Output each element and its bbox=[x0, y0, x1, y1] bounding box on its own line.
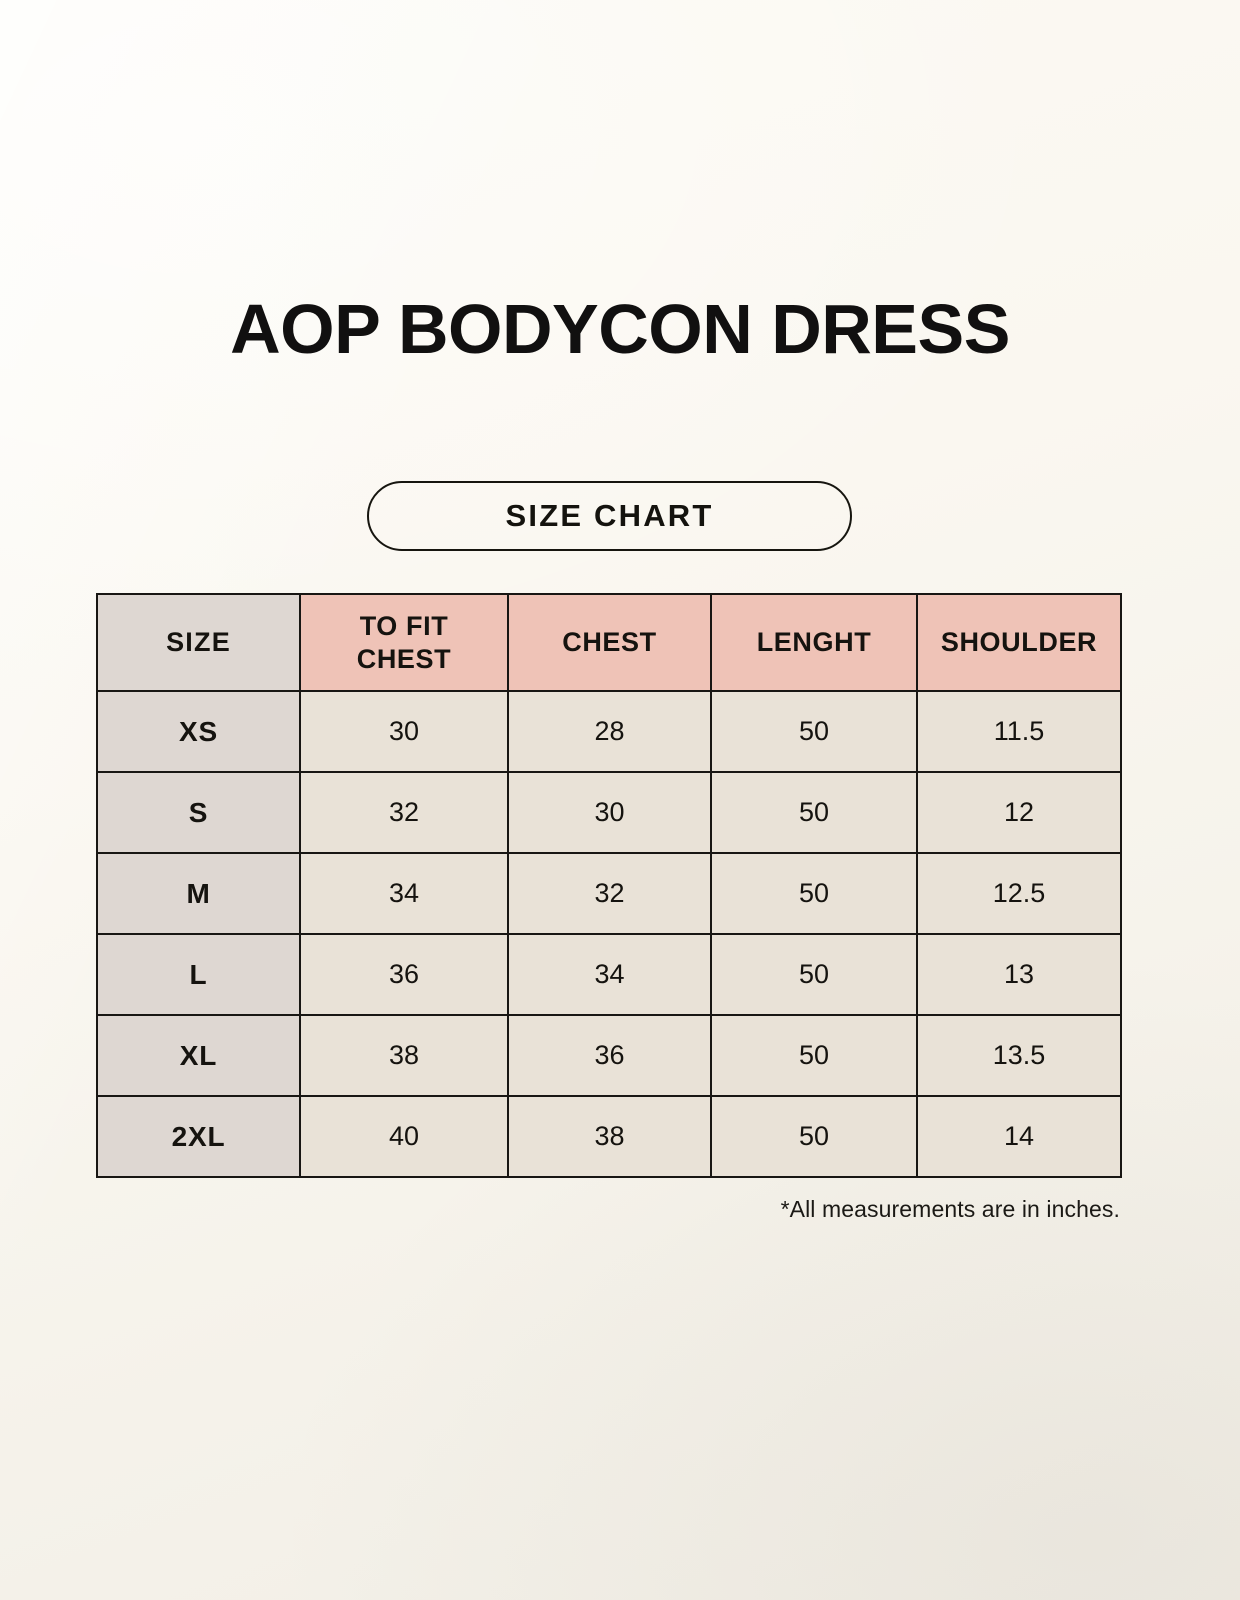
table-row: XL 38 36 50 13.5 bbox=[97, 1015, 1121, 1096]
cell-to-fit-chest: 34 bbox=[300, 853, 508, 934]
table-row: XS 30 28 50 11.5 bbox=[97, 691, 1121, 772]
cell-shoulder: 13 bbox=[917, 934, 1121, 1015]
cell-length: 50 bbox=[711, 691, 917, 772]
cell-to-fit-chest: 32 bbox=[300, 772, 508, 853]
table-header-row: SIZE TO FIT CHEST CHEST LENGHT SHOULDER bbox=[97, 594, 1121, 691]
cell-chest: 36 bbox=[508, 1015, 711, 1096]
cell-shoulder: 13.5 bbox=[917, 1015, 1121, 1096]
size-table: SIZE TO FIT CHEST CHEST LENGHT SHOULDER … bbox=[96, 593, 1122, 1178]
cell-size: L bbox=[97, 934, 300, 1015]
cell-size: 2XL bbox=[97, 1096, 300, 1177]
column-header-chest: CHEST bbox=[508, 594, 711, 691]
cell-chest: 32 bbox=[508, 853, 711, 934]
size-table-body: XS 30 28 50 11.5 S 32 30 50 12 M 34 32 bbox=[97, 691, 1121, 1177]
table-row: S 32 30 50 12 bbox=[97, 772, 1121, 853]
cell-shoulder: 11.5 bbox=[917, 691, 1121, 772]
column-header-size: SIZE bbox=[97, 594, 300, 691]
cell-length: 50 bbox=[711, 1096, 917, 1177]
size-chart-page: AOP BODYCON DRESS SIZE CHART SIZE TO FIT… bbox=[0, 0, 1240, 1600]
column-header-to-fit-chest-line2: CHEST bbox=[357, 644, 452, 674]
cell-shoulder: 12 bbox=[917, 772, 1121, 853]
cell-chest: 28 bbox=[508, 691, 711, 772]
cell-to-fit-chest: 40 bbox=[300, 1096, 508, 1177]
cell-shoulder: 14 bbox=[917, 1096, 1121, 1177]
size-chart-badge-label: SIZE CHART bbox=[506, 498, 714, 534]
size-table-container: SIZE TO FIT CHEST CHEST LENGHT SHOULDER … bbox=[96, 593, 1120, 1178]
cell-length: 50 bbox=[711, 772, 917, 853]
cell-chest: 30 bbox=[508, 772, 711, 853]
cell-size: S bbox=[97, 772, 300, 853]
cell-to-fit-chest: 36 bbox=[300, 934, 508, 1015]
table-row: L 36 34 50 13 bbox=[97, 934, 1121, 1015]
column-header-shoulder: SHOULDER bbox=[917, 594, 1121, 691]
cell-to-fit-chest: 38 bbox=[300, 1015, 508, 1096]
page-title: AOP BODYCON DRESS bbox=[0, 292, 1240, 366]
table-row: 2XL 40 38 50 14 bbox=[97, 1096, 1121, 1177]
cell-length: 50 bbox=[711, 853, 917, 934]
cell-size: XL bbox=[97, 1015, 300, 1096]
size-chart-badge: SIZE CHART bbox=[367, 481, 852, 551]
cell-chest: 38 bbox=[508, 1096, 711, 1177]
cell-size: M bbox=[97, 853, 300, 934]
cell-length: 50 bbox=[711, 934, 917, 1015]
table-row: M 34 32 50 12.5 bbox=[97, 853, 1121, 934]
size-table-header: SIZE TO FIT CHEST CHEST LENGHT SHOULDER bbox=[97, 594, 1121, 691]
cell-to-fit-chest: 30 bbox=[300, 691, 508, 772]
column-header-to-fit-chest: TO FIT CHEST bbox=[300, 594, 508, 691]
cell-size: XS bbox=[97, 691, 300, 772]
measurement-units-note: *All measurements are in inches. bbox=[96, 1196, 1120, 1223]
cell-chest: 34 bbox=[508, 934, 711, 1015]
column-header-length: LENGHT bbox=[711, 594, 917, 691]
cell-shoulder: 12.5 bbox=[917, 853, 1121, 934]
column-header-to-fit-chest-line1: TO FIT bbox=[360, 611, 449, 641]
cell-length: 50 bbox=[711, 1015, 917, 1096]
